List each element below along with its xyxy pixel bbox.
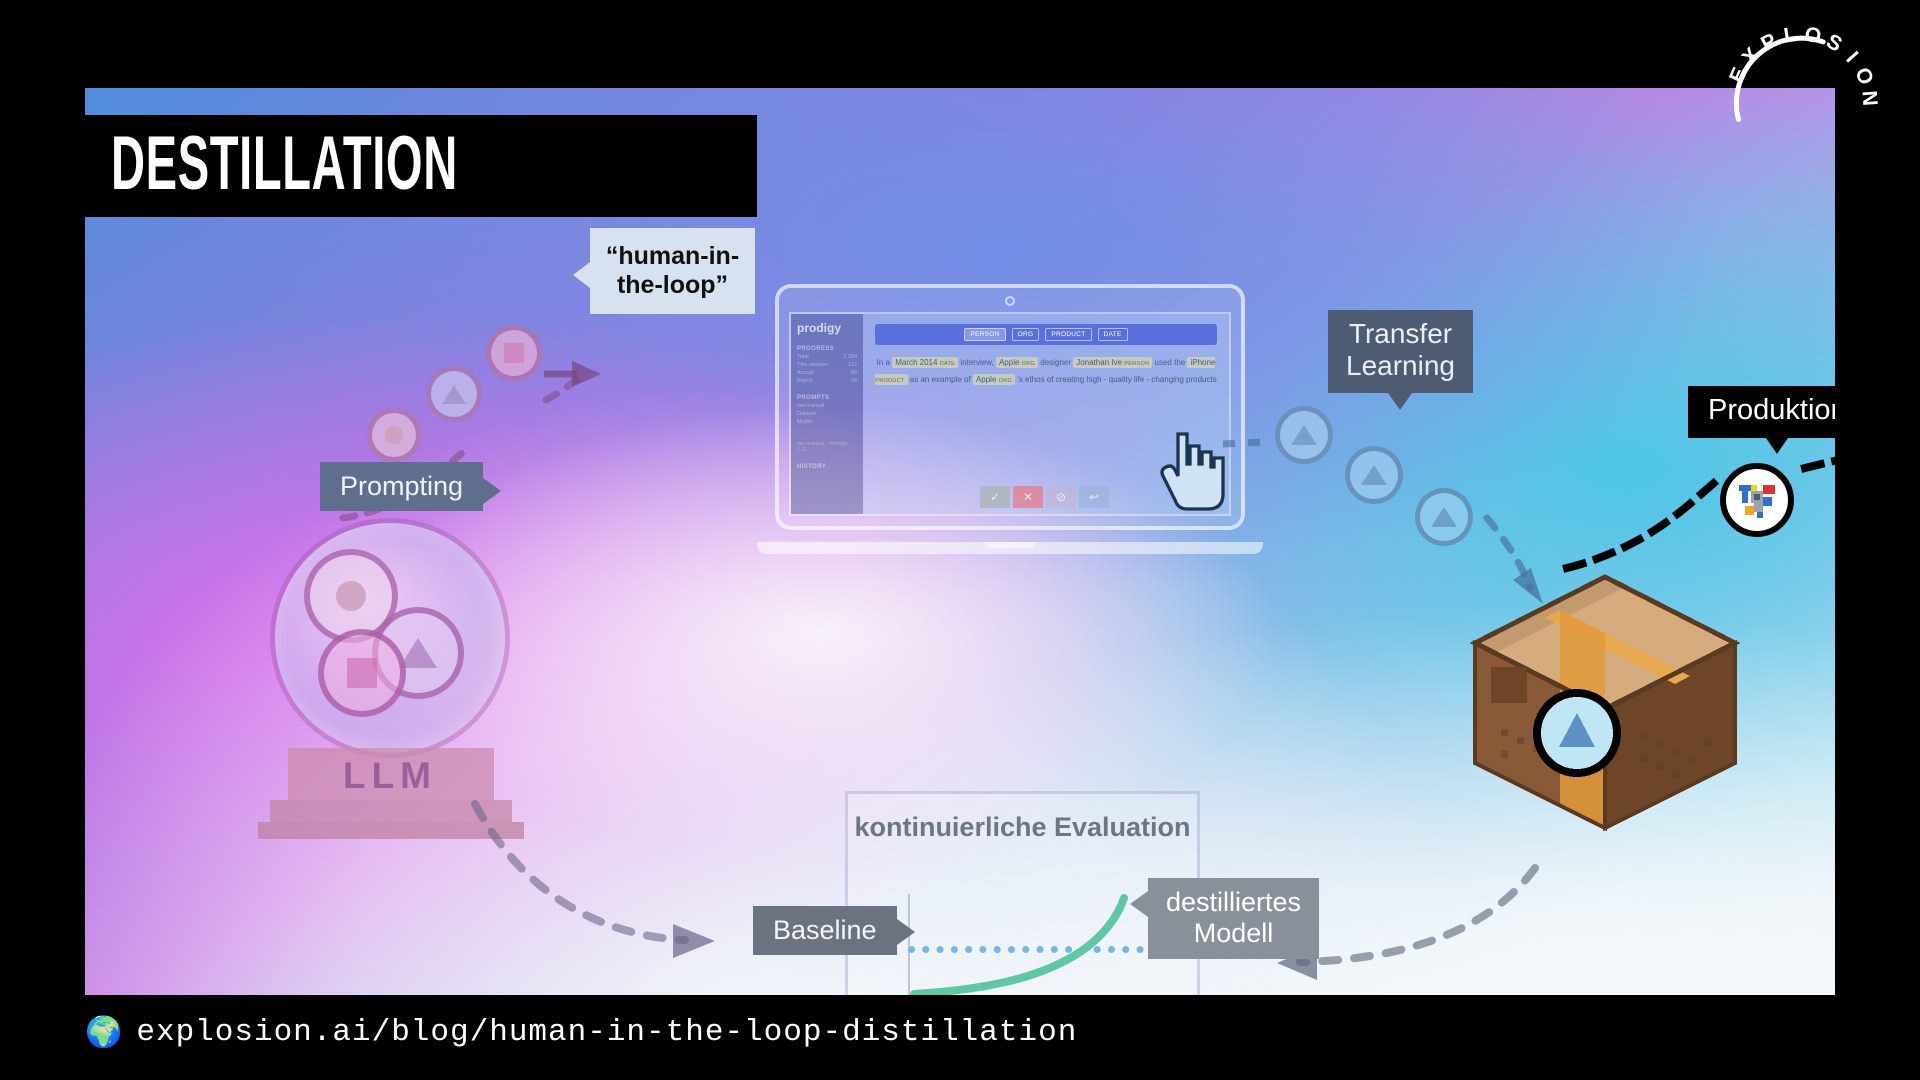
- label-toolbar: PERSON ORG PRODUCT DATE: [875, 324, 1217, 345]
- sidebar-row: This session 112: [797, 362, 857, 368]
- undo-button[interactable]: ↩: [1079, 486, 1109, 508]
- callout-notch: [573, 262, 590, 288]
- prodigy-sidebar: prodigy PROGRESS Total 1,284 This sessio…: [791, 314, 863, 514]
- sidebar-row-value: 112: [848, 362, 857, 368]
- entity-org-2: Apple ORG: [973, 374, 1015, 385]
- reject-button[interactable]: ✕: [1013, 486, 1043, 508]
- poster-title-block: DESTILLATION: [85, 115, 757, 217]
- callout-transfer-learning: Transfer Learning: [1328, 310, 1473, 393]
- callout-human-in-the-loop: “human-in- the-loop”: [590, 228, 755, 314]
- logo-letter: O: [1850, 64, 1878, 88]
- entity-tag: ORG: [999, 378, 1012, 384]
- logo-letter: X: [1738, 43, 1764, 69]
- text-token: as an example of: [908, 375, 973, 384]
- accept-button[interactable]: ✓: [980, 486, 1010, 508]
- callout-notch: [1388, 393, 1412, 410]
- text-token: designer: [1038, 358, 1073, 367]
- entity-tag: PRODUCT: [875, 378, 904, 384]
- entity-date: March 2014 DATE: [892, 357, 958, 368]
- label-chip-date[interactable]: DATE: [1098, 328, 1128, 341]
- poster-root: LLM prodigy PROGRESS: [0, 0, 1920, 1080]
- llm-shape-square: [318, 629, 406, 717]
- action-button-bar: ✓ ✕ ⊘ ↩: [980, 486, 1109, 508]
- text-token: In a: [877, 358, 893, 367]
- sidebar-row-key: Reject: [797, 378, 813, 384]
- label-chip-org[interactable]: ORG: [1012, 328, 1040, 341]
- sidebar-heading-history: HISTORY: [797, 464, 857, 470]
- callout-destilliertes-modell: destilliertes Modell: [1148, 878, 1319, 959]
- sidebar-row-value: 1,284: [843, 354, 857, 360]
- sidebar-row-value: 26: [851, 378, 857, 384]
- sidebar-heading-prompts: PROMPTS: [797, 395, 857, 401]
- sidebar-heading-progress: PROGRESS: [797, 346, 857, 352]
- entity-tag: ORG: [1022, 361, 1035, 367]
- sidebar-row-key: ner.manual: [797, 403, 824, 409]
- callout-notch: [1766, 438, 1788, 454]
- illustration-canvas: LLM prodigy PROGRESS: [85, 88, 1835, 995]
- llm-to-eval-arrow: [415, 788, 875, 988]
- sidebar-row: Total 1,284: [797, 354, 857, 360]
- prodigy-logo: prodigy: [797, 321, 857, 335]
- text-token: interview,: [958, 358, 996, 367]
- text-token: used the: [1152, 358, 1187, 367]
- logo-letter: S: [1823, 30, 1846, 57]
- sidebar-footer-text: ner.manual · Prodigy 1.11: [797, 441, 857, 453]
- callout-line-2: Modell: [1166, 918, 1301, 949]
- sidebar-row: ner.manual: [797, 403, 857, 409]
- callout-notch: [897, 919, 915, 945]
- sidebar-row-key: Total: [797, 354, 809, 360]
- footer-bar: 🌍 explosion.ai/blog/human-in-the-loop-di…: [85, 1015, 1077, 1050]
- callout-baseline: Baseline: [753, 906, 897, 955]
- sidebar-row-key: This session: [797, 362, 828, 368]
- footer-url[interactable]: explosion.ai/blog/human-in-the-loop-dist…: [136, 1015, 1077, 1050]
- logo-letter: L: [1782, 23, 1798, 48]
- sidebar-row: Dataset: [797, 411, 857, 417]
- callout-line-2: Learning: [1346, 350, 1455, 382]
- callout-notch: [483, 478, 501, 504]
- page-title: DESTILLATION: [111, 129, 495, 199]
- sidebar-row-key: Model: [797, 419, 812, 425]
- label-chip-person[interactable]: PERSON: [964, 328, 1005, 341]
- callout-line-1: “human-in-: [600, 242, 745, 271]
- entity-tag: DATE: [940, 361, 955, 367]
- text-token: 's ethos of creating high - quality life…: [1015, 375, 1217, 384]
- sidebar-row: Reject 26: [797, 378, 857, 384]
- entity-person: Jonathan Ive PERSON: [1073, 357, 1152, 368]
- logo-letter: O: [1803, 23, 1823, 48]
- callout-label: Prompting: [340, 471, 463, 501]
- callout-label: Produktion: [1708, 394, 1835, 426]
- package-to-production-arrow: [1535, 418, 1835, 578]
- ignore-button[interactable]: ⊘: [1046, 486, 1076, 508]
- callout-prompting: Prompting: [320, 462, 483, 511]
- distilled-model-series-curve: [908, 894, 1158, 995]
- sidebar-footer-meta: ner.manual · Prodigy 1.11: [797, 441, 857, 453]
- callout-notch: [1130, 891, 1148, 917]
- label-chip-product[interactable]: PRODUCT: [1045, 328, 1091, 341]
- llm-to-laptop-arrow: [261, 328, 781, 558]
- callout-line-1: destilliertes: [1166, 887, 1301, 918]
- sidebar-row: Accept 86: [797, 370, 857, 376]
- sidebar-row-key: Dataset: [797, 411, 816, 417]
- entity-org: Apple ORG: [996, 357, 1038, 368]
- sidebar-row-value: 86: [851, 370, 857, 376]
- logo-letter: N: [1857, 90, 1881, 107]
- logo-letter: I: [1841, 47, 1862, 67]
- laptop-base-notch: [984, 542, 1036, 548]
- callout-label: Baseline: [773, 915, 877, 945]
- package-box: [1465, 563, 1745, 838]
- chart-title: kontinuierliche Evaluation: [848, 812, 1197, 843]
- callout-produktion: Produktion: [1688, 386, 1835, 438]
- globe-icon: 🌍: [85, 1018, 122, 1048]
- callout-line-2: the-loop”: [600, 271, 745, 300]
- entity-tag: PERSON: [1124, 361, 1149, 367]
- explosion-logo: E X P L O S I O N: [1706, 8, 1896, 198]
- sidebar-row: Model: [797, 419, 857, 425]
- annotation-text[interactable]: In a March 2014 DATE interview, Apple OR…: [875, 355, 1217, 389]
- callout-line-1: Transfer: [1346, 318, 1455, 350]
- sidebar-row-key: Accept: [797, 370, 814, 376]
- webcam-icon: [1005, 296, 1015, 306]
